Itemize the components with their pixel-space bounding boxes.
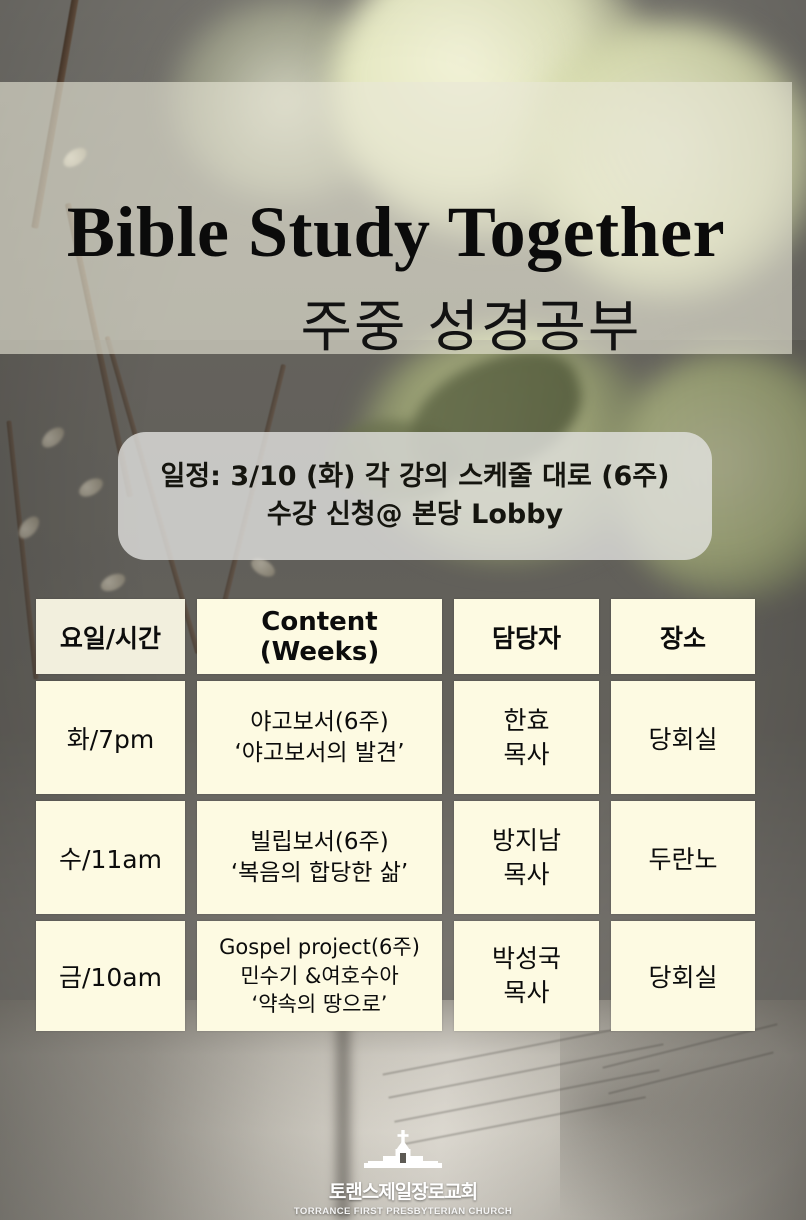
header-cell-content: Content (Weeks) [197,599,442,674]
cell-content-line: 야고보서(6주) [250,707,388,737]
page-title: Bible Study Together [0,196,792,268]
title-band: Bible Study Together 주중 성경공부 [0,82,792,354]
cell-leader: 박성국 목사 [454,921,599,1031]
cell-place: 당회실 [611,921,755,1031]
cell-leader-title: 목사 [503,976,549,1010]
table-row: 화/7pm 야고보서(6주) ‘야고보서의 발견’ 한효 목사 당회실 [36,681,758,794]
cell-daytime: 금/10am [36,921,185,1031]
header-cell-leader: 담당자 [454,599,599,674]
cell-content: Gospel project(6주) 민수기 &여호수아 ‘약속의 땅으로’ [197,921,442,1031]
cell-content-line: ‘야고보서의 발견’ [234,738,404,768]
cell-leader-title: 목사 [503,738,549,772]
church-building-icon [338,1128,468,1176]
cell-leader-title: 목사 [503,858,549,892]
page-subtitle: 주중 성경공부 [0,300,792,356]
cell-content-line: ‘복음의 합당한 삶’ [231,858,408,888]
info-line-date: 일정: 3/10 (화) 각 강의 스케줄 대로 (6주) [160,458,669,496]
cell-content: 야고보서(6주) ‘야고보서의 발견’ [197,681,442,794]
cell-place: 당회실 [611,681,755,794]
table-header-row: 요일/시간 Content (Weeks) 담당자 장소 [36,599,758,674]
cell-leader-name: 박성국 [492,942,561,976]
info-line-registration: 수강 신청@ 본당 Lobby [267,496,563,534]
church-name-ko: 토랜스제일장로교회 [329,1177,477,1204]
cell-daytime: 화/7pm [36,681,185,794]
table-row: 금/10am Gospel project(6주) 민수기 &여호수아 ‘약속의… [36,921,758,1031]
header-cell-daytime: 요일/시간 [36,599,185,674]
cell-leader: 한효 목사 [454,681,599,794]
cell-content-line: Gospel project(6주) [219,933,420,962]
cell-content-line: ‘약속의 땅으로’ [252,990,388,1019]
cell-content-line: 민수기 &여호수아 [240,962,398,991]
church-logo: 토랜스제일장로교회 TORRANCE FIRST PRESBYTERIAN CH… [0,1128,806,1217]
header-cell-place: 장소 [611,599,755,674]
table-row: 수/11am 빌립보서(6주) ‘복음의 합당한 삶’ 방지남 목사 두란노 [36,801,758,914]
poster: Bible Study Together 주중 성경공부 일정: 3/10 (화… [0,0,806,1220]
cell-leader-name: 한효 [503,704,549,738]
schedule-info-box: 일정: 3/10 (화) 각 강의 스케줄 대로 (6주) 수강 신청@ 본당 … [118,432,712,560]
cell-daytime: 수/11am [36,801,185,914]
cell-place: 두란노 [611,801,755,914]
cell-content-line: 빌립보서(6주) [250,827,388,857]
cell-leader-name: 방지남 [492,824,561,858]
cell-leader: 방지남 목사 [454,801,599,914]
cell-content: 빌립보서(6주) ‘복음의 합당한 삶’ [197,801,442,914]
schedule-table: 요일/시간 Content (Weeks) 담당자 장소 화/7pm 야고보서(… [36,599,758,1038]
church-name-en: TORRANCE FIRST PRESBYTERIAN CHURCH [294,1206,512,1217]
